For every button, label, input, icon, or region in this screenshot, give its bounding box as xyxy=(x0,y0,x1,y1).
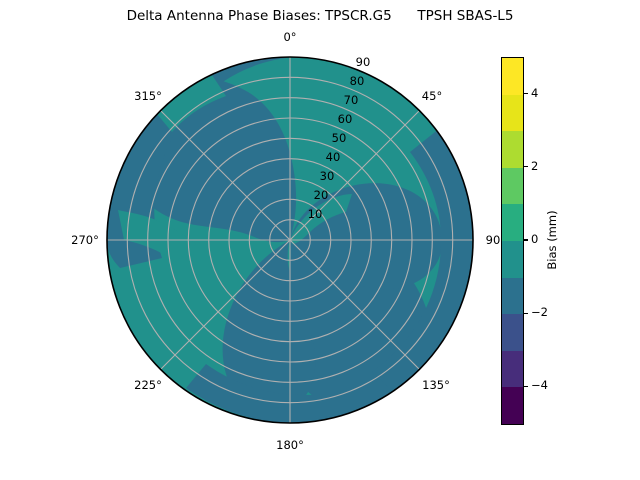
colorbar-band-7 xyxy=(502,314,523,351)
radial-tick-20: 20 xyxy=(314,188,329,202)
colorbar-tick-label: 2 xyxy=(531,159,538,173)
colorbar-tick-mark xyxy=(524,239,528,240)
azimuth-tick-135: 135° xyxy=(422,378,450,392)
colorbar-tick-mark xyxy=(524,93,528,94)
colorbar-tick-label: −4 xyxy=(531,378,548,392)
radial-tick-30: 30 xyxy=(320,169,335,183)
radial-tick-70: 70 xyxy=(344,93,359,107)
radial-tick-40: 40 xyxy=(326,150,341,164)
azimuth-tick-90: 90 xyxy=(486,233,501,247)
colorbar[interactable] xyxy=(501,57,524,425)
colorbar-band-4 xyxy=(502,204,523,241)
colorbar-band-9 xyxy=(502,387,523,424)
radial-tick-60: 60 xyxy=(338,112,353,126)
azimuth-tick-180: 180° xyxy=(276,438,304,452)
azimuth-tick-225: 225° xyxy=(134,378,162,392)
colorbar-band-1 xyxy=(502,95,523,132)
radial-tick-90: 90 xyxy=(356,55,371,69)
azimuth-tick-270: 270° xyxy=(71,233,99,247)
radial-tick-10: 10 xyxy=(308,207,323,221)
azimuth-tick-315: 315° xyxy=(134,89,162,103)
colorbar-band-8 xyxy=(502,351,523,388)
polar-grid-spokes xyxy=(107,57,473,423)
colorbar-band-5 xyxy=(502,241,523,278)
colorbar-label: Bias (mm) xyxy=(545,210,559,269)
colorbar-tick-mark xyxy=(524,166,528,167)
azimuth-tick-0: 0° xyxy=(283,30,296,44)
azimuth-tick-45: 45° xyxy=(422,89,442,103)
colorbar-tick-mark xyxy=(524,313,528,314)
radial-tick-50: 50 xyxy=(332,131,347,145)
figure-canvas: Delta Antenna Phase Biases: TPSCR.G5 TPS… xyxy=(0,0,640,480)
colorbar-tick-label: 4 xyxy=(531,86,538,100)
colorbar-band-3 xyxy=(502,168,523,205)
colorbar-band-0 xyxy=(502,58,523,95)
colorbar-band-2 xyxy=(502,131,523,168)
colorbar-tick-label: 0 xyxy=(531,232,538,246)
colorbar-tick-mark xyxy=(524,386,528,387)
colorbar-tick-label: −2 xyxy=(531,305,548,319)
colorbar-band-6 xyxy=(502,278,523,315)
radial-tick-80: 80 xyxy=(350,74,365,88)
